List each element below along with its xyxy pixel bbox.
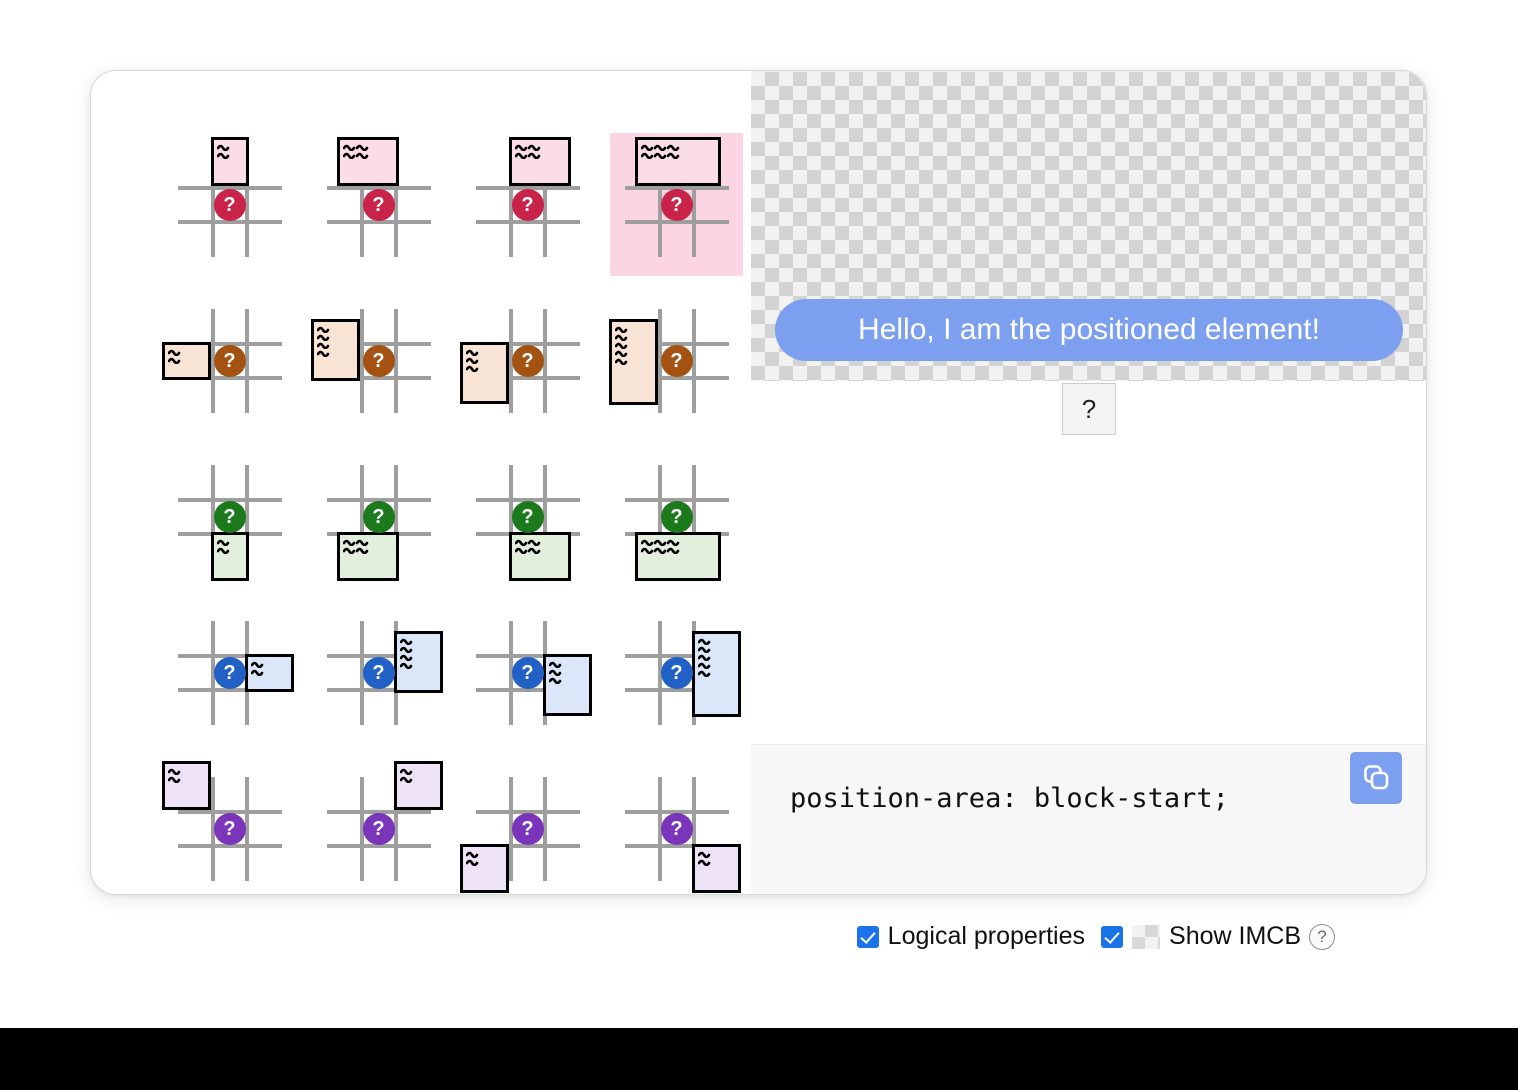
squiggle-line [317, 325, 330, 332]
preview-box [460, 342, 509, 404]
squiggle-line [400, 637, 413, 644]
preview-box [394, 761, 443, 810]
show-imcb-label: Show IMCB [1169, 922, 1301, 951]
position-area-option[interactable]: ? [312, 289, 445, 432]
squiggle-line [698, 858, 711, 865]
tic-tac-toe-board: ? [625, 309, 729, 413]
tic-tac-toe-board: ? [178, 153, 282, 257]
anchor-dot-icon: ? [661, 345, 693, 377]
position-area-option[interactable]: ? [312, 601, 445, 744]
squiggle-line [615, 325, 628, 332]
preview-box [245, 654, 294, 692]
squiggle-line [515, 546, 541, 553]
preview-box [337, 532, 399, 581]
squiggle-line [343, 143, 369, 150]
position-area-demo-card: ???????????????????? Hello, I am the pos… [90, 70, 1427, 895]
tic-tac-toe-board: ? [476, 309, 580, 413]
position-area-option[interactable]: ? [312, 445, 445, 588]
tic-tac-toe-board: ? [625, 777, 729, 881]
squiggle-line [400, 767, 413, 774]
show-imcb-option[interactable]: Show IMCB [1101, 922, 1301, 951]
squiggle-line [549, 668, 562, 675]
anchor-dot-icon: ? [661, 189, 693, 221]
anchor-dot-icon: ? [512, 345, 544, 377]
anchor-dot-icon: ? [363, 345, 395, 377]
position-area-option[interactable]: ? [610, 757, 743, 895]
preview-box [394, 631, 443, 693]
anchor-dot-icon: ? [214, 813, 246, 845]
squiggle-line [343, 546, 369, 553]
tic-tac-toe-board: ? [327, 465, 431, 569]
squiggle-line [698, 653, 711, 660]
preview-box [162, 761, 211, 810]
position-area-option[interactable]: ? [163, 133, 296, 276]
squiggle-line [698, 661, 711, 668]
position-area-option[interactable]: ? [163, 601, 296, 744]
position-area-option[interactable]: ? [610, 445, 743, 588]
anchor-dot-icon: ? [512, 189, 544, 221]
squiggle-line [615, 333, 628, 340]
preview-box [211, 137, 249, 186]
preview-box [543, 654, 592, 716]
squiggle-line [168, 775, 181, 782]
position-area-option[interactable]: ? [610, 601, 743, 744]
squiggle-line [168, 767, 181, 774]
anchor-dot-icon: ? [214, 189, 246, 221]
preview-box [692, 631, 741, 717]
show-imcb-checkbox[interactable] [1101, 926, 1123, 948]
preview-box [635, 532, 721, 581]
anchor-dot-icon: ? [512, 501, 544, 533]
squiggle-line [641, 143, 680, 150]
tic-tac-toe-board: ? [178, 621, 282, 725]
tic-tac-toe-board: ? [476, 621, 580, 725]
tic-tac-toe-board: ? [625, 465, 729, 569]
squiggle-line [698, 637, 711, 644]
position-area-option[interactable]: ? [461, 289, 594, 432]
position-area-grid[interactable]: ???????????????????? [163, 133, 743, 895]
tic-tac-toe-board: ? [178, 309, 282, 413]
positioned-element-bubble: Hello, I am the positioned element! [775, 299, 1403, 361]
anchor-dot-icon: ? [214, 345, 246, 377]
squiggle-line [400, 653, 413, 660]
preview-box [609, 319, 658, 405]
squiggle-line [343, 538, 369, 545]
position-area-option[interactable]: ? [312, 757, 445, 895]
squiggle-line [641, 151, 680, 158]
position-area-option[interactable]: ? [610, 289, 743, 432]
position-area-option[interactable]: ? [163, 445, 296, 588]
squiggle-line [251, 668, 264, 675]
squiggle-line [549, 676, 562, 683]
code-block: position-area: block-start; [751, 744, 1427, 895]
squiggle-line [641, 538, 680, 545]
preview-box [311, 319, 360, 381]
squiggle-line [217, 151, 230, 158]
squiggle-line [217, 538, 230, 545]
squiggle-line [466, 858, 479, 865]
squiggle-line [168, 348, 181, 355]
preview-box [692, 844, 741, 893]
squiggle-line [168, 356, 181, 363]
anchor-dot-icon: ? [512, 657, 544, 689]
logical-properties-option[interactable]: Logical properties [857, 922, 1085, 951]
preview-box [211, 532, 249, 581]
tic-tac-toe-board: ? [476, 465, 580, 569]
options-row: Logical properties Show IMCB ? [0, 922, 1427, 951]
copy-icon [1361, 762, 1391, 795]
preview-box [337, 137, 399, 186]
help-icon[interactable]: ? [1309, 924, 1335, 950]
preview-box [635, 137, 721, 186]
position-area-option[interactable]: ? [461, 445, 594, 588]
anchor-dot-icon: ? [214, 501, 246, 533]
squiggle-line [217, 546, 230, 553]
squiggle-line [400, 775, 413, 782]
anchor-dot-icon: ? [661, 813, 693, 845]
imcb-swatch-icon [1132, 925, 1160, 949]
anchor-dot-icon: ? [363, 813, 395, 845]
position-area-option[interactable]: ? [461, 601, 594, 744]
squiggle-line [466, 356, 479, 363]
squiggle-line [251, 660, 264, 667]
position-area-option[interactable]: ? [461, 757, 594, 895]
squiggle-line [549, 660, 562, 667]
squiggle-line [466, 348, 479, 355]
anchor-dot-icon: ? [512, 813, 544, 845]
squiggle-line [217, 143, 230, 150]
anchor-dot-icon: ? [363, 501, 395, 533]
tic-tac-toe-board: ? [178, 777, 282, 881]
position-area-option[interactable]: ? [163, 289, 296, 432]
preview-box [509, 137, 571, 186]
position-area-picker-pane: ???????????????????? [91, 71, 751, 894]
tic-tac-toe-board: ? [476, 777, 580, 881]
squiggle-line [466, 364, 479, 371]
squiggle-line [317, 341, 330, 348]
copy-icon-button[interactable] [1350, 752, 1402, 804]
css-declaration-text: position-area: block-start; [790, 783, 1229, 814]
position-area-option[interactable]: ? [461, 133, 594, 276]
anchor-dot-icon: ? [661, 657, 693, 689]
position-area-option[interactable]: ? [610, 133, 743, 276]
squiggle-line [400, 661, 413, 668]
logical-properties-label: Logical properties [888, 922, 1085, 951]
anchor-dot-icon: ? [661, 501, 693, 533]
squiggle-line [615, 341, 628, 348]
squiggle-line [615, 349, 628, 356]
anchor-element[interactable]: ? [1062, 383, 1116, 435]
squiggle-line [515, 151, 541, 158]
squiggle-line [641, 546, 680, 553]
preview-box [460, 844, 509, 893]
squiggle-line [698, 645, 711, 652]
position-area-option[interactable]: ? [163, 757, 296, 895]
squiggle-line [515, 538, 541, 545]
squiggle-line [515, 143, 541, 150]
letterbox-bar [0, 1028, 1518, 1090]
tic-tac-toe-board: ? [625, 153, 729, 257]
squiggle-line [615, 357, 628, 364]
screenshot-root: ???????????????????? Hello, I am the pos… [0, 0, 1518, 1090]
squiggle-line [698, 850, 711, 857]
tic-tac-toe-board: ? [327, 621, 431, 725]
logical-properties-checkbox[interactable] [857, 926, 879, 948]
tic-tac-toe-board: ? [327, 309, 431, 413]
tic-tac-toe-board: ? [476, 153, 580, 257]
squiggle-line [400, 645, 413, 652]
anchor-dot-icon: ? [363, 189, 395, 221]
squiggle-line [317, 349, 330, 356]
preview-box [509, 532, 571, 581]
tic-tac-toe-board: ? [178, 465, 282, 569]
squiggle-line [466, 850, 479, 857]
tic-tac-toe-board: ? [625, 621, 729, 725]
squiggle-line [343, 151, 369, 158]
tic-tac-toe-board: ? [327, 777, 431, 881]
tic-tac-toe-board: ? [327, 153, 431, 257]
squiggle-line [698, 669, 711, 676]
anchor-dot-icon: ? [214, 657, 246, 689]
preview-box [162, 342, 211, 380]
position-area-option[interactable]: ? [312, 133, 445, 276]
preview-pane: Hello, I am the positioned element! ? po… [751, 71, 1426, 894]
squiggle-line [317, 333, 330, 340]
anchor-dot-icon: ? [363, 657, 395, 689]
